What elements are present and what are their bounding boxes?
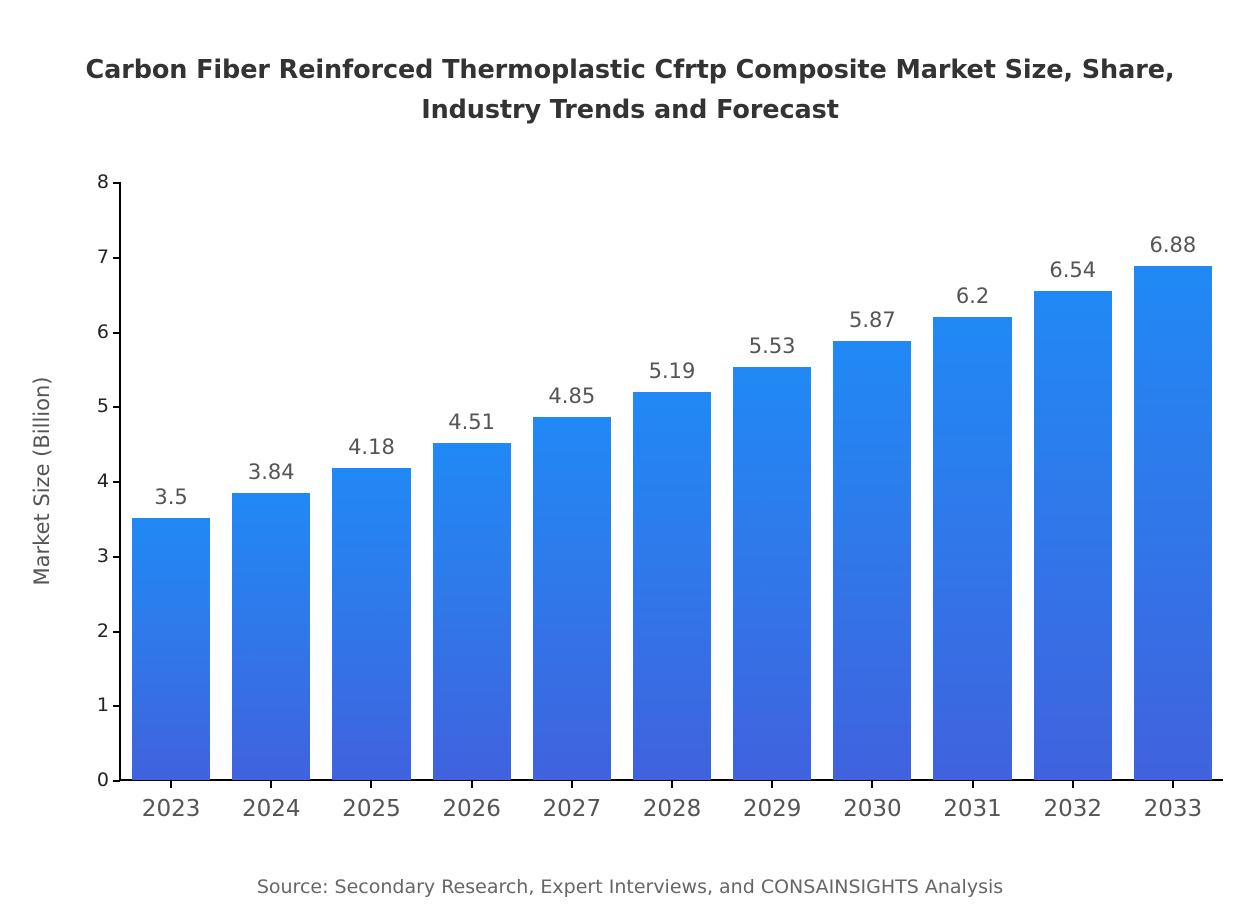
x-tick-label: 2033 [1144,796,1203,822]
bar[interactable] [232,493,310,780]
y-tick-label: 0 [97,769,109,791]
x-tick-mark [871,780,873,788]
y-axis-title: Market Size (Billion) [22,182,62,780]
x-tick-label: 2026 [442,796,501,822]
x-tick-mark [471,780,473,788]
y-tick-label: 8 [97,171,109,193]
bar[interactable] [332,468,410,780]
x-tick-mark [170,780,172,788]
y-tick-label: 6 [97,321,109,343]
x-tick-label: 2027 [543,796,602,822]
bar-value-label: 4.51 [448,410,495,434]
x-tick-mark [972,780,974,788]
y-tick-mark [113,182,120,184]
x-tick-label: 2028 [643,796,702,822]
bar-value-label: 4.85 [548,384,595,408]
y-tick-label: 3 [97,545,109,567]
x-tick-label: 2032 [1043,796,1102,822]
y-tick-mark [113,780,120,782]
chart-title: Carbon Fiber Reinforced Thermoplastic Cf… [80,50,1180,130]
bar[interactable] [833,341,911,780]
x-tick-mark [671,780,673,788]
bar-value-label: 3.84 [248,460,295,484]
x-tick-label: 2023 [142,796,201,822]
x-tick-label: 2029 [743,796,802,822]
y-tick-mark [113,332,120,334]
x-tick-label: 2031 [943,796,1002,822]
x-tick-mark [270,780,272,788]
x-tick-mark [771,780,773,788]
y-tick-mark [113,481,120,483]
y-tick-mark [113,631,120,633]
y-tick-label: 4 [97,470,109,492]
y-tick-label: 5 [97,395,109,417]
x-tick-label: 2025 [342,796,401,822]
x-tick-mark [370,780,372,788]
bar[interactable] [1134,266,1212,780]
bar-value-label: 5.53 [749,334,796,358]
bar[interactable] [132,518,210,780]
bar-value-label: 6.2 [956,284,989,308]
y-tick-mark [113,556,120,558]
bar-value-label: 3.5 [154,485,187,509]
chart-title-line-1: Carbon Fiber Reinforced Thermoplastic Cf… [86,55,1175,85]
x-tick-label: 2030 [843,796,902,822]
bar-value-label: 5.19 [649,359,696,383]
x-tick-mark [1072,780,1074,788]
x-tick-mark [571,780,573,788]
bar[interactable] [733,367,811,780]
bar[interactable] [633,392,711,780]
source-note: Source: Secondary Research, Expert Inter… [0,876,1260,898]
bar-value-label: 6.54 [1049,258,1096,282]
x-tick-mark [1172,780,1174,788]
bar-value-label: 4.18 [348,435,395,459]
y-tick-mark [113,257,120,259]
chart-title-line-2: Industry Trends and Forecast [421,95,839,125]
x-tick-label: 2024 [242,796,301,822]
bar[interactable] [433,443,511,780]
y-tick-label: 1 [97,694,109,716]
bar[interactable] [533,417,611,780]
plot-area: 012345678 202320242025202620272028202920… [120,182,1222,780]
bar-value-label: 5.87 [849,308,896,332]
bar[interactable] [1034,291,1112,780]
bar[interactable] [933,317,1011,780]
chart-figure: Carbon Fiber Reinforced Thermoplastic Cf… [0,0,1260,920]
y-tick-label: 2 [97,620,109,642]
y-tick-mark [113,406,120,408]
bar-value-label: 6.88 [1150,233,1197,257]
y-tick-mark [113,705,120,707]
y-tick-label: 7 [97,246,109,268]
